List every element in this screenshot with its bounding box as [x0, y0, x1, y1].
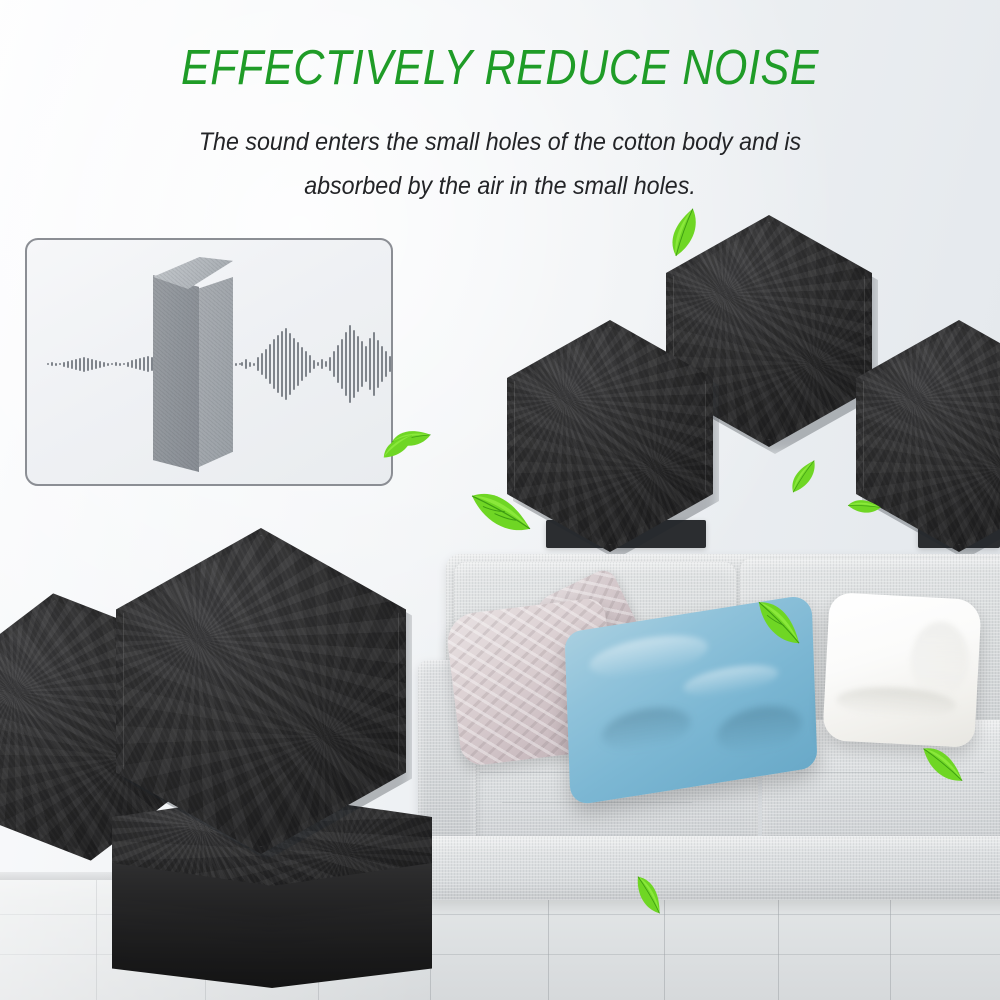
acoustic-panel-slab: [153, 257, 235, 472]
waveform-bar: [87, 358, 89, 371]
waveform-bar: [309, 355, 311, 373]
waveform-bar: [103, 362, 105, 367]
waveform-bar: [329, 357, 331, 371]
waveform-bar: [273, 339, 275, 389]
waveform-bar: [317, 362, 319, 366]
subtitle-line-1: The sound enters the small holes of the …: [156, 120, 844, 164]
waveform-bar: [265, 349, 267, 379]
waveform-bar: [269, 344, 271, 384]
subtitle-line-2: absorbed by the air in the small holes.: [156, 164, 844, 208]
waveform-bar: [373, 332, 375, 396]
waveform-bar: [257, 357, 259, 371]
waveform-bar: [313, 360, 315, 369]
waveform-bar: [135, 359, 137, 369]
waveform-bar: [353, 330, 355, 398]
slab-front-face: [153, 275, 199, 472]
waveform-bar: [51, 362, 53, 366]
waveform-bar: [249, 362, 251, 367]
waveform-bar: [143, 357, 145, 371]
product-marketing-image: EFFECTIVELY REDUCE NOISE The sound enter…: [0, 0, 1000, 1000]
waveform-bar: [341, 339, 343, 389]
waveform-bar: [115, 362, 117, 366]
waveform-bar: [235, 363, 237, 366]
waveform-bar: [389, 356, 391, 372]
slab-texture: [199, 277, 233, 467]
waveform-bar: [365, 346, 367, 382]
sofa-base-skirt: [424, 836, 1000, 900]
sofa-fabric-texture: [424, 836, 1000, 900]
waveform-bar: [357, 336, 359, 392]
waveform-bar: [245, 359, 247, 369]
white-pillow: [822, 592, 982, 748]
loud-sound-wave: [241, 325, 393, 403]
waveform-bar: [261, 353, 263, 375]
waveform-bar: [293, 338, 295, 390]
waveform-bar: [59, 363, 61, 365]
waveform-bar: [349, 325, 351, 403]
slab-texture: [153, 275, 199, 472]
satin-fold-shadow: [716, 701, 802, 759]
waveform-bar: [381, 346, 383, 382]
waveform-bar: [131, 360, 133, 368]
waveform-bar: [297, 342, 299, 386]
waveform-bar: [377, 340, 379, 388]
waveform-bar: [281, 331, 283, 397]
waveform-bar: [241, 362, 243, 366]
waveform-bar: [369, 338, 371, 390]
waveform-bar: [91, 359, 93, 370]
waveform-bar: [253, 363, 255, 366]
waveform-bar: [83, 357, 85, 372]
waveform-bar: [285, 328, 287, 400]
satin-highlight: [589, 629, 709, 684]
waveform-bar: [361, 341, 363, 387]
waveform-bar: [337, 345, 339, 383]
page-subtitle: The sound enters the small holes of the …: [156, 120, 844, 208]
slab-side-face: [199, 277, 233, 467]
satin-highlight: [683, 660, 779, 701]
page-title: EFFECTIVELY REDUCE NOISE: [60, 40, 940, 96]
waveform-bar: [75, 359, 77, 370]
waveform-bar: [67, 361, 69, 368]
waveform-bar: [127, 362, 129, 367]
waveform-bar: [55, 363, 57, 366]
waveform-bar: [99, 361, 101, 368]
waveform-bar: [147, 356, 149, 372]
waveform-bar: [111, 363, 113, 365]
satin-fold-shadow: [601, 702, 691, 756]
waveform-bar: [325, 361, 327, 367]
waveform-bar: [305, 351, 307, 377]
waveform-bar: [277, 335, 279, 393]
waveform-bar: [71, 360, 73, 369]
sound-absorption-diagram: [25, 238, 393, 486]
waveform-bar: [333, 351, 335, 377]
waveform-bar: [385, 351, 387, 377]
waveform-bar: [139, 358, 141, 370]
waveform-bar: [47, 363, 49, 365]
waveform-bar: [289, 333, 291, 395]
waveform-bar: [321, 359, 323, 369]
gray-fabric-sofa: [418, 548, 1000, 900]
waveform-bar: [123, 363, 125, 365]
waveform-bar: [95, 360, 97, 369]
waveform-bar: [345, 332, 347, 396]
cushion-crease: [502, 802, 692, 803]
waveform-bar: [79, 358, 81, 371]
waveform-bar: [107, 363, 109, 366]
waveform-bar: [63, 362, 65, 367]
waveform-bar: [119, 363, 121, 366]
floating-green-leaf: [636, 874, 661, 915]
waveform-bar: [301, 347, 303, 381]
